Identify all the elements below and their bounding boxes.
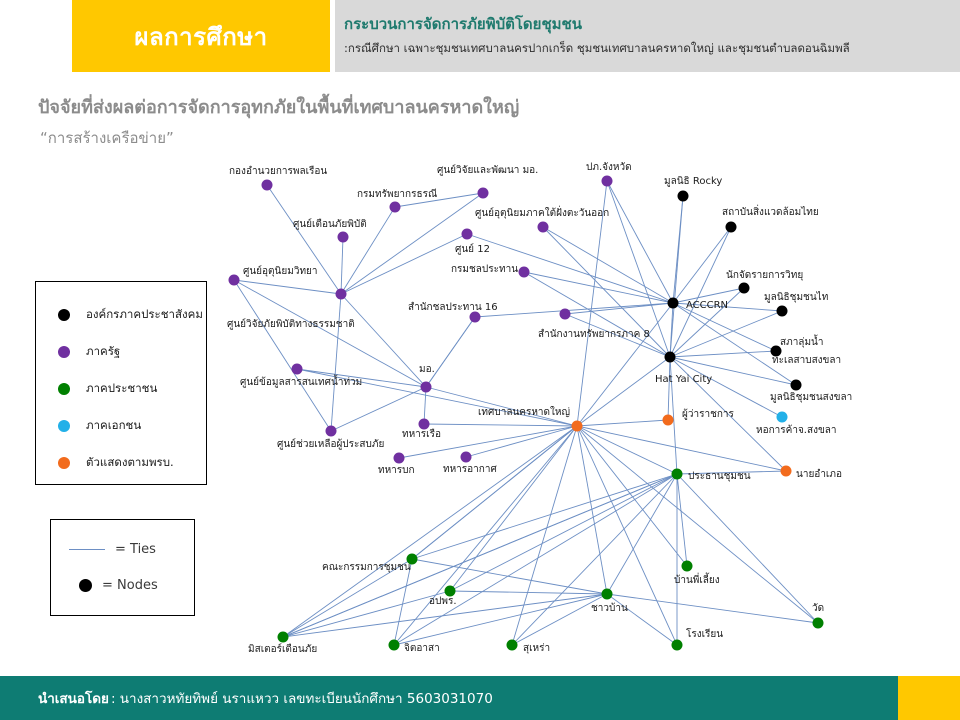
graph-edge — [450, 474, 677, 591]
graph-edge — [673, 303, 796, 385]
graph-node-label: ทหารบก — [378, 465, 415, 476]
graph-edge — [283, 559, 412, 637]
graph-node-label: มูลนิธิชุมชนสงขลา — [770, 392, 852, 403]
node-label-layer: กองอำนวยการพลเรือนกรมทรัพยากรธรณีศูนย์เต… — [227, 162, 852, 655]
graph-node[interactable] — [682, 561, 693, 572]
graph-node-label: โรงเรียน — [686, 627, 723, 640]
graph-node[interactable] — [262, 180, 273, 191]
graph-edge — [607, 594, 677, 645]
graph-node-label: มอ. — [419, 364, 435, 375]
legend-key-nodes-row: = Nodes — [79, 578, 158, 593]
legend-item-label: ภาคประชาชน — [86, 380, 157, 398]
graph-edge — [577, 426, 786, 471]
graph-node-label: เทศบาลนครหาดใหญ่ — [478, 406, 570, 418]
graph-edge — [577, 420, 668, 426]
graph-node[interactable] — [781, 466, 792, 477]
graph-edge — [607, 181, 670, 357]
graph-node[interactable] — [462, 229, 473, 240]
page-title: ผลการศึกษา — [72, 0, 330, 72]
graph-edge — [577, 303, 673, 426]
graph-node[interactable] — [470, 312, 481, 323]
graph-node[interactable] — [663, 415, 674, 426]
graph-edge — [670, 196, 683, 357]
graph-node[interactable] — [278, 632, 289, 643]
graph-edge — [283, 594, 607, 637]
graph-edge — [394, 594, 607, 645]
graph-edge — [607, 181, 673, 303]
graph-node-label: ทหารเรือ — [402, 428, 441, 440]
graph-node-label: ACCCRN — [686, 300, 728, 311]
graph-edge — [512, 594, 607, 645]
graph-edge — [267, 185, 341, 294]
content-heading: ปัจจัยที่ส่งผลต่อการจัดการอุทกภัยในพื้นท… — [38, 92, 519, 121]
graph-node[interactable] — [572, 421, 583, 432]
graph-edge — [577, 426, 677, 645]
graph-node-label: มูลนิธิชุมชนไท — [764, 291, 828, 303]
graph-edge — [524, 272, 673, 303]
footer-accent-block — [898, 676, 960, 720]
graph-node[interactable] — [668, 298, 679, 309]
graph-edge — [670, 303, 673, 357]
graph-edge — [394, 559, 412, 645]
graph-node-label: สำนักชลประทาน 16 — [408, 302, 498, 313]
graph-node-label: ศูนย์อุตุนิยมวิทยา — [243, 265, 318, 277]
graph-node[interactable] — [672, 640, 683, 651]
header-gray-panel — [335, 0, 960, 72]
graph-edge — [450, 591, 607, 594]
graph-edge — [577, 357, 670, 426]
graph-node[interactable] — [538, 222, 549, 233]
graph-node[interactable] — [560, 309, 571, 320]
graph-edge — [297, 369, 426, 387]
graph-edge — [670, 357, 782, 417]
graph-edge — [341, 294, 426, 387]
graph-edge — [466, 426, 577, 457]
legend-item: ภาครัฐ — [36, 333, 206, 370]
graph-edge — [565, 314, 670, 357]
graph-node[interactable] — [229, 275, 240, 286]
graph-edge — [394, 426, 577, 645]
graph-node[interactable] — [777, 412, 788, 423]
header-subtitle-main: กระบวนการจัดการภัยพิบัติโดยชุมชน — [344, 12, 582, 36]
graph-edge — [673, 196, 683, 303]
graph-node[interactable] — [519, 267, 530, 278]
graph-node-label: ศูนย์ช่วยเหลือผู้ประสบภัย — [277, 438, 384, 450]
graph-edge — [283, 474, 677, 637]
graph-edge — [512, 474, 677, 645]
legend-dot-icon — [58, 309, 70, 321]
graph-edge — [234, 280, 426, 387]
legend-key-ties-row: = Ties — [69, 542, 156, 557]
legend-sector-types: องค์กรภาคประชาสังคม ภาครัฐ ภาคประชาชน ภา… — [35, 281, 207, 485]
legend-item: ภาคประชาชน — [36, 370, 206, 407]
graph-edge — [341, 237, 343, 294]
graph-node-label: สุเหร่า — [523, 643, 550, 654]
graph-edge — [673, 288, 744, 303]
legend-item: ตัวแสดงตามพรบ. — [36, 444, 206, 481]
graph-edge — [565, 303, 673, 314]
graph-node[interactable] — [336, 289, 347, 300]
graph-edge — [426, 317, 475, 387]
graph-edge — [677, 471, 786, 474]
graph-edge — [543, 227, 670, 357]
graph-node-label: ผู้ว่าราชการ — [682, 408, 735, 420]
graph-edge — [412, 474, 677, 559]
graph-node-label: สำนักงานทรัพยากรภาค 8 — [538, 329, 650, 340]
graph-node-label: ศูนย์ 12 — [455, 243, 490, 255]
graph-node-label: ทหารอากาศ — [443, 464, 497, 475]
graph-node[interactable] — [394, 453, 405, 464]
graph-edge — [577, 426, 687, 566]
legend-dot-icon — [58, 457, 70, 469]
footer-credit-text: : นางสาวหทัยทิพย์ นราแหวว เลขทะเบียนนักศ… — [111, 687, 493, 709]
graph-node[interactable] — [445, 586, 456, 597]
graph-node-label: มูลนิธิ Rocky — [664, 176, 722, 187]
graph-edge — [670, 227, 731, 357]
graph-node-label: อปพร. — [429, 596, 457, 607]
graph-edge — [341, 234, 467, 294]
legend-item-label: ภาคเอกชน — [86, 417, 141, 435]
legend-item-label: ภาครัฐ — [86, 343, 120, 361]
graph-node-label: ปภ.จังหวัด — [586, 162, 632, 173]
graph-edge — [467, 234, 673, 303]
graph-node-label: ประธานชุมชน — [688, 471, 751, 482]
graph-node[interactable] — [672, 469, 683, 480]
graph-edge — [426, 387, 577, 426]
graph-node[interactable] — [813, 618, 824, 629]
graph-node[interactable] — [478, 188, 489, 199]
graph-edge — [677, 474, 818, 623]
node-layer — [229, 176, 824, 651]
graph-edge — [426, 317, 475, 387]
graph-edge — [412, 426, 577, 559]
graph-edge — [607, 594, 818, 623]
graph-edge — [577, 426, 818, 623]
graph-edge — [673, 303, 782, 311]
graph-edge — [283, 474, 677, 637]
graph-node[interactable] — [602, 176, 613, 187]
legend-item: ภาคเอกชน — [36, 407, 206, 444]
tie-line-icon — [69, 549, 105, 550]
graph-edge — [424, 424, 577, 426]
graph-node-label: มิสเตอร์เตือนภัย — [248, 643, 317, 655]
graph-node[interactable] — [726, 222, 737, 233]
legend-graph-key: = Ties = Nodes — [50, 519, 195, 616]
graph-node[interactable] — [292, 364, 303, 375]
graph-edge — [475, 303, 673, 317]
graph-node-label: ศูนย์วิจัยและพัฒนา มอ. — [437, 164, 538, 176]
graph-edge — [670, 357, 796, 385]
graph-edge — [331, 387, 426, 431]
graph-node[interactable] — [407, 554, 418, 565]
graph-edge — [331, 294, 341, 431]
graph-node-label: หอการค้าจ.สงขลา — [756, 424, 837, 436]
graph-node-label: กรมทรัพยากรธรณี — [357, 188, 437, 200]
graph-edge — [670, 357, 786, 471]
node-dot-icon — [79, 579, 92, 592]
graph-node-label: คณะกรรมการชุมชน — [322, 562, 411, 573]
graph-edge — [670, 311, 782, 357]
graph-edge — [670, 288, 744, 357]
graph-edge — [670, 351, 776, 357]
graph-edge — [512, 426, 577, 645]
graph-node-label: ชาวบ้าน — [591, 602, 628, 614]
graph-node[interactable] — [771, 346, 782, 357]
graph-edge — [412, 426, 577, 559]
graph-node[interactable] — [739, 283, 750, 294]
graph-node-label: สภาลุ่มน้ำ — [780, 334, 823, 348]
legend-key-ties-label: = Ties — [115, 542, 156, 557]
graph-edge — [607, 474, 677, 594]
graph-edge — [524, 272, 670, 357]
graph-edge — [673, 227, 731, 303]
footer-credit: นำเสนอโดย : นางสาวหทัยทิพย์ นราแหวว เลขท… — [38, 676, 493, 720]
graph-edge — [341, 207, 395, 294]
graph-node[interactable] — [338, 232, 349, 243]
graph-edge — [677, 474, 687, 566]
graph-node-label: ทะเลสาบสงขลา — [772, 355, 841, 366]
graph-node[interactable] — [777, 306, 788, 317]
graph-edge — [341, 193, 483, 294]
slide-header: ผลการศึกษา กระบวนการจัดการภัยพิบัติโดยชุ… — [0, 0, 960, 72]
graph-edge — [297, 369, 577, 426]
graph-edge — [543, 227, 673, 303]
legend-item-label: ตัวแสดงตามพรบ. — [86, 454, 174, 472]
graph-edge — [673, 303, 776, 351]
graph-node-label: ศูนย์ข้อมูลสารสนเทศน้ำท่วม — [240, 374, 362, 388]
graph-node-label: บ้านพี่เลี้ยง — [674, 572, 720, 586]
graph-node[interactable] — [421, 382, 432, 393]
graph-node[interactable] — [461, 452, 472, 463]
edge-layer — [234, 181, 818, 645]
graph-edge — [412, 559, 607, 594]
graph-edge — [394, 474, 677, 645]
graph-node-label: ศูนย์เตือนภัยพิบัติ — [293, 218, 367, 230]
graph-edge — [670, 357, 677, 474]
footer-credit-prefix: นำเสนอโดย — [38, 687, 109, 709]
graph-edge — [395, 193, 483, 207]
graph-node[interactable] — [390, 202, 401, 213]
graph-node[interactable] — [678, 191, 689, 202]
legend-item-label: องค์กรภาคประชาสังคม — [86, 306, 203, 324]
graph-node-label: นักจัดรายการวิทยุ — [726, 270, 803, 281]
graph-node-label: Hat Yai City — [655, 374, 712, 385]
legend-item: องค์กรภาคประชาสังคม — [36, 296, 206, 333]
header-subtitle-detail: :กรณีศึกษา เฉพาะชุมชนเทศบาลนครปากเกร็ด ช… — [344, 40, 850, 58]
graph-node-label: ศูนย์วิจัยภัยพิบัติทางธรรมชาติ — [227, 318, 355, 330]
content-subheading: “การสร้างเครือข่าย” — [40, 126, 174, 150]
graph-edge — [450, 426, 577, 591]
legend-key-nodes-label: = Nodes — [102, 578, 158, 593]
graph-node[interactable] — [665, 352, 676, 363]
graph-edge — [234, 280, 341, 294]
graph-node[interactable] — [389, 640, 400, 651]
graph-node[interactable] — [326, 426, 337, 437]
graph-edge — [424, 387, 426, 424]
graph-node-label: สถาบันสิ่งแวดล้อมไทย — [722, 204, 819, 218]
graph-edge — [283, 591, 450, 637]
graph-node[interactable] — [419, 419, 430, 430]
graph-node[interactable] — [507, 640, 518, 651]
legend-dot-icon — [58, 383, 70, 395]
graph-edge — [234, 280, 331, 431]
graph-node-label: ศูนย์อุตุนิยมภาคใต้ฝั่งตะวันออก — [475, 205, 609, 219]
graph-node[interactable] — [602, 589, 613, 600]
graph-node-label: วัด — [812, 603, 824, 614]
graph-node-label: จิตอาสา — [404, 643, 440, 654]
graph-edge — [399, 426, 577, 458]
graph-node-label: กรมชลประทาน — [451, 264, 518, 275]
legend-dot-icon — [58, 420, 70, 432]
graph-edge — [577, 426, 677, 474]
graph-edge — [668, 357, 670, 420]
graph-node-label: นายอำเภอ — [796, 469, 842, 480]
graph-node[interactable] — [791, 380, 802, 391]
graph-edge — [577, 181, 607, 426]
slide-root: ผลการศึกษา กระบวนการจัดการภัยพิบัติโดยชุ… — [0, 0, 960, 720]
graph-edge — [577, 426, 607, 594]
legend-dot-icon — [58, 346, 70, 358]
graph-edge — [283, 426, 577, 637]
graph-node-label: กองอำนวยการพลเรือน — [229, 165, 327, 177]
